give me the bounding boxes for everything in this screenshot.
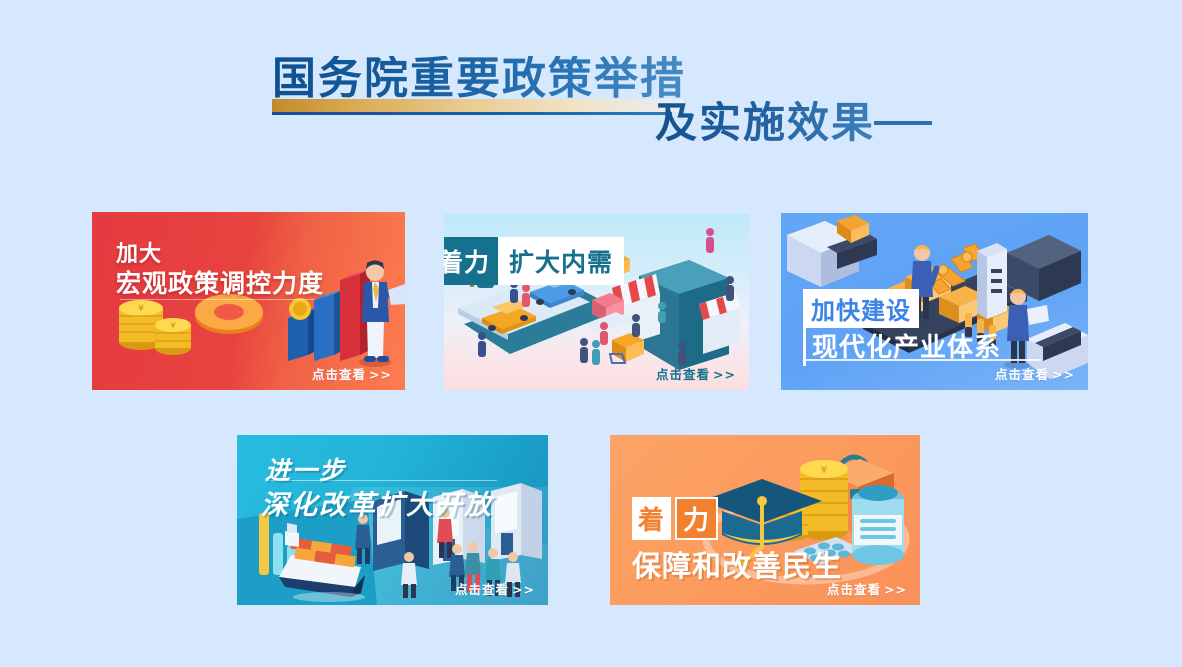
double-chevron-right-icon: >> [512,582,535,597]
card-welfare-heading-part-1: 着 [632,497,671,540]
card-welfare-heading-line-2: 保障和改善民生 [632,543,842,585]
card-industry-heading-underline [803,359,1041,361]
page-title-line-1: 国务院重要政策举措 [272,56,686,102]
title-rule-line [272,112,672,115]
double-chevron-right-icon: >> [713,367,736,382]
page-title-block: 国务院重要政策举措 及实施效果 [0,0,1182,190]
svg-text:¥: ¥ [138,304,144,314]
card-demand-cta[interactable]: 点击查看>> [656,364,736,383]
card-reform-opening[interactable]: 进一步 深化改革扩大开放 点击查看>> [237,435,548,605]
card-demand-cta-label: 点击查看 [656,367,710,382]
card-peoples-livelihood[interactable]: ¥ ¥ [610,435,920,605]
card-welfare-cta-label: 点击查看 [827,582,881,597]
double-chevron-right-icon: >> [884,582,907,597]
card-welfare-heading-part-2: 力 [675,497,718,540]
card-reform-heading-line-1: 进一步 [265,451,346,487]
card-macro-cta[interactable]: 点击查看>> [312,364,392,383]
double-chevron-right-icon: >> [369,367,392,382]
card-industry-cta[interactable]: 点击查看>> [995,364,1075,383]
title-gold-accent-bar [272,99,684,112]
card-macro-heading-line-2: 宏观政策调控力度 [116,264,324,300]
card-domestic-demand[interactable]: 着力 扩大内需 点击查看>> [444,214,749,390]
card-modern-industry[interactable]: 加快建设 现代化产业体系 点击查看>> [781,213,1088,390]
card-demand-heading-part-2: 扩大内需 [498,237,624,285]
card-welfare-cta[interactable]: 点击查看>> [827,579,907,598]
card-macro-cta-label: 点击查看 [312,367,366,382]
card-welfare-banner: 着 力 [632,497,718,540]
svg-text:¥: ¥ [821,465,827,476]
title-dash-icon [874,121,932,125]
card-macro-heading-underline [120,299,315,300]
card-reform-cta[interactable]: 点击查看>> [455,579,535,598]
page-title-line-2: 及实施效果 [655,101,875,145]
card-industry-cta-label: 点击查看 [995,367,1049,382]
svg-text:¥: ¥ [170,321,175,330]
card-reform-cta-label: 点击查看 [455,582,509,597]
card-demand-heading-part-1: 着力 [444,237,498,285]
card-industry-heading-line-1: 加快建设 [803,289,919,328]
double-chevron-right-icon: >> [1052,367,1075,382]
card-demand-banner: 着力 扩大内需 [444,237,624,285]
card-macro-policy[interactable]: ¥ ¥ 加大 宏观政策调控力度 点击查看>> [92,212,405,390]
card-reform-heading-line-2: 深化改革扩大开放 [261,483,493,522]
